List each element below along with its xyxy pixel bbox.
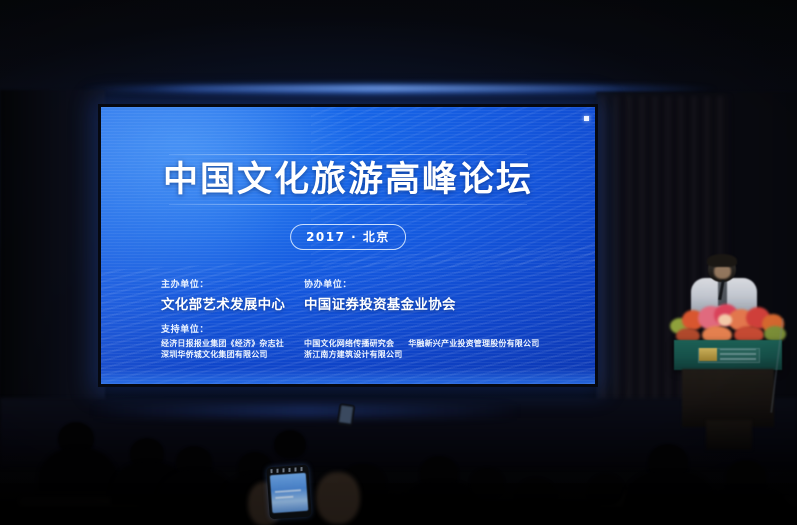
podium-area (660, 252, 797, 427)
audience-phone (266, 465, 312, 520)
podium-front-panel (674, 340, 782, 370)
organizer-row: 主办单位： 文化部艺术发展中心 协办单位： 中国证券投资基金业协会 (161, 277, 556, 322)
left-wall (0, 90, 105, 420)
co-organizer-value: 中国证券投资基金业协会 (304, 293, 554, 313)
phone-screen (270, 473, 309, 513)
title-rule-bottom (169, 204, 527, 205)
ceiling-light-streak (150, 86, 630, 91)
supporter-row-1: 经济日报报业集团《经济》杂志社 中国文化网络传播研究会华融新兴产业投资管理股份有… (161, 338, 556, 349)
organizer-label: 主办单位： (161, 277, 304, 290)
organizer-column: 主办单位： 文化部艺术发展中心 (161, 277, 304, 322)
supporter-label: 支持单位： (161, 322, 556, 335)
supporter-right-1a: 中国文化网络传播研究会 (304, 339, 394, 348)
co-organizer-column: 协办单位： 中国证券投资基金业协会 (304, 277, 554, 322)
organizer-block: 主办单位： 文化部艺术发展中心 协办单位： 中国证券投资基金业协会 支持单位： … (161, 277, 556, 360)
projection-screen: 中国文化旅游高峰论坛 2017 · 北京 主办单位： 文化部艺术发展中心 协办单… (101, 107, 595, 384)
co-organizer-label: 协办单位： (304, 277, 554, 290)
title-rule-top (169, 154, 527, 155)
slide-title: 中国文化旅游高峰论坛 (101, 157, 595, 203)
supporter-left-1: 经济日报报业集团《经济》杂志社 (161, 338, 304, 349)
audience (0, 408, 797, 525)
supporter-right-1b: 华融新兴产业投资管理股份有限公司 (408, 339, 539, 348)
date-badge: 2017 · 北京 (290, 224, 406, 250)
foreground-shadow (0, 483, 797, 525)
supporter-left-2: 深圳华侨城文化集团有限公司 (161, 349, 304, 360)
podium-plaque-text (720, 349, 756, 360)
audience-phone-back-screen (339, 405, 353, 424)
organizer-value: 文化部艺术发展中心 (161, 293, 304, 313)
audience-phone-back (337, 403, 356, 427)
supporter-right-2: 浙江南方建筑设计有限公司 (304, 349, 554, 360)
supporter-row-2: 深圳华侨城文化集团有限公司 浙江南方建筑设计有限公司 (161, 349, 556, 360)
speaker-hair (707, 254, 737, 267)
podium-emblem-icon (699, 348, 717, 361)
conference-photo: 中国文化旅游高峰论坛 2017 · 北京 主办单位： 文化部艺术发展中心 协办单… (0, 0, 797, 525)
supporter-right-1: 中国文化网络传播研究会华融新兴产业投资管理股份有限公司 (304, 338, 554, 349)
slide-content: 中国文化旅游高峰论坛 2017 · 北京 主办单位： 文化部艺术发展中心 协办单… (101, 107, 595, 384)
